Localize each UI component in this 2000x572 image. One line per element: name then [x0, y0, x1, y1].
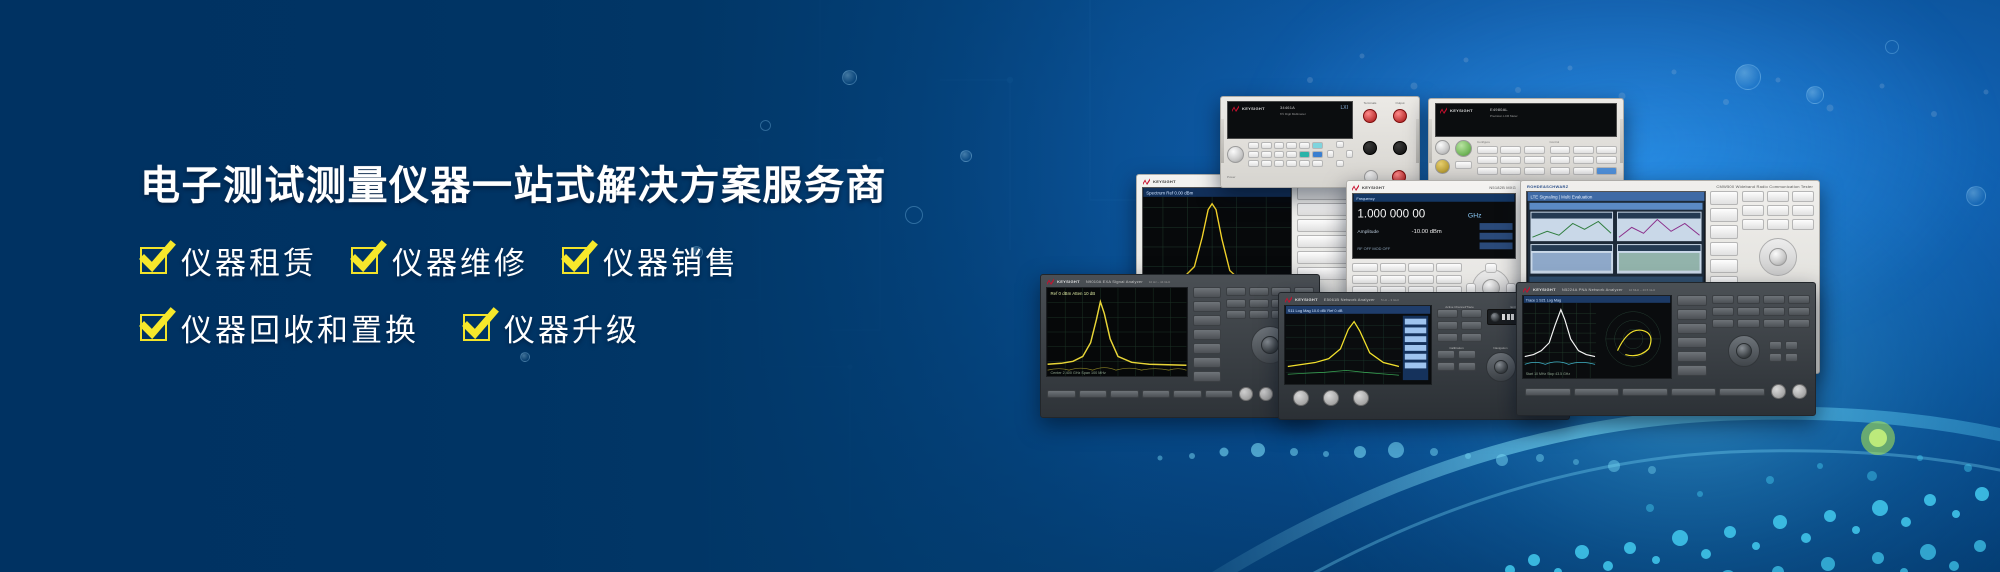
feature-label: 仪器升级: [504, 305, 640, 350]
svg-text:S11 Log Mag 10.0 dB/ Ref 0 dB: S11 Log Mag 10.0 dB/ Ref 0 dB: [1288, 308, 1343, 313]
svg-text:Start 10 MHz Stop 43.5 GHz: Start 10 MHz Stop 43.5 GHz: [1526, 372, 1571, 376]
svg-text:-10.00 dBm: -10.00 dBm: [1412, 229, 1442, 235]
feature-label: 仪器租赁: [181, 238, 317, 283]
checkbox-checked-icon: [140, 314, 167, 341]
banner-copy: 电子测试测量仪器一站式解决方案服务商 仪器租赁 仪器维修 仪器销售: [140, 164, 920, 372]
bubble-decoration: [1735, 64, 1761, 90]
feature-row-2: 仪器回收和置换 仪器升级: [140, 305, 920, 350]
feature-item-instrument-upgrade[interactable]: 仪器升级: [463, 305, 640, 350]
feature-item-instrument-rental[interactable]: 仪器租赁: [140, 238, 317, 283]
svg-text:Amplitude: Amplitude: [1357, 229, 1379, 235]
page-title: 电子测试测量仪器一站式解决方案服务商: [140, 164, 920, 208]
feature-label: 仪器销售: [603, 238, 739, 283]
svg-text:Trace 1 S21 Log Mag: Trace 1 S21 Log Mag: [1526, 298, 1561, 302]
svg-text:GHz: GHz: [1468, 212, 1482, 219]
feature-label: 仪器回收和置换: [181, 305, 419, 350]
feature-row-1: 仪器租赁 仪器维修 仪器销售: [140, 238, 920, 283]
feature-item-instrument-repair[interactable]: 仪器维修: [351, 238, 528, 283]
checkbox-checked-icon: [463, 314, 490, 341]
bubble-decoration: [960, 150, 972, 162]
svg-text:LTE Signaling | Multi Evalua: LTE Signaling | Multi Evaluation: [1530, 194, 1592, 199]
svg-text:Center 2.400 GHz Span 100 MH: Center 2.400 GHz Span 100 MHz: [1051, 371, 1107, 375]
instrument-network-analyzer-pna: KEYSIGHT N5224A PNA Network Analyzer 10 …: [1516, 282, 1816, 416]
feature-item-instrument-sales[interactable]: 仪器销售: [562, 238, 739, 283]
bubble-decoration: [1966, 186, 1986, 206]
instrument-lcr-meter: KEYSIGHT E4980AL Precision LCR Meter Con…: [1428, 98, 1624, 186]
svg-text:RF OFF MOD OFF: RF OFF MOD OFF: [1357, 246, 1390, 251]
checkbox-checked-icon: [351, 247, 378, 274]
svg-text:1.000 000 00: 1.000 000 00: [1357, 207, 1425, 220]
feature-item-recycle-exchange[interactable]: 仪器回收和置换: [140, 305, 419, 350]
bubble-decoration: [842, 70, 857, 85]
bubble-decoration: [760, 120, 771, 131]
hero-banner: 电子测试测量仪器一站式解决方案服务商 仪器租赁 仪器维修 仪器销售: [0, 0, 2000, 572]
svg-text:Frequency: Frequency: [1356, 196, 1374, 201]
checkbox-checked-icon: [562, 247, 589, 274]
feature-label: 仪器维修: [392, 238, 528, 283]
bubble-decoration: [1885, 40, 1899, 54]
instrument-digital-multimeter-1: KEYSIGHT 34461A 6½ Digit Multimeter LXI …: [1220, 96, 1420, 188]
svg-text:Spectrum Ref 0.00 dBm: Spectrum Ref 0.00 dBm: [1146, 190, 1193, 195]
checkbox-checked-icon: [140, 247, 167, 274]
svg-text:Ref 0 dBm Atten 10 dB: Ref 0 dBm Atten 10 dB: [1051, 291, 1096, 296]
instrument-cluster: KEYSIGHT N9020A MXA Signal Analyzer 10 H…: [1040, 96, 1940, 516]
